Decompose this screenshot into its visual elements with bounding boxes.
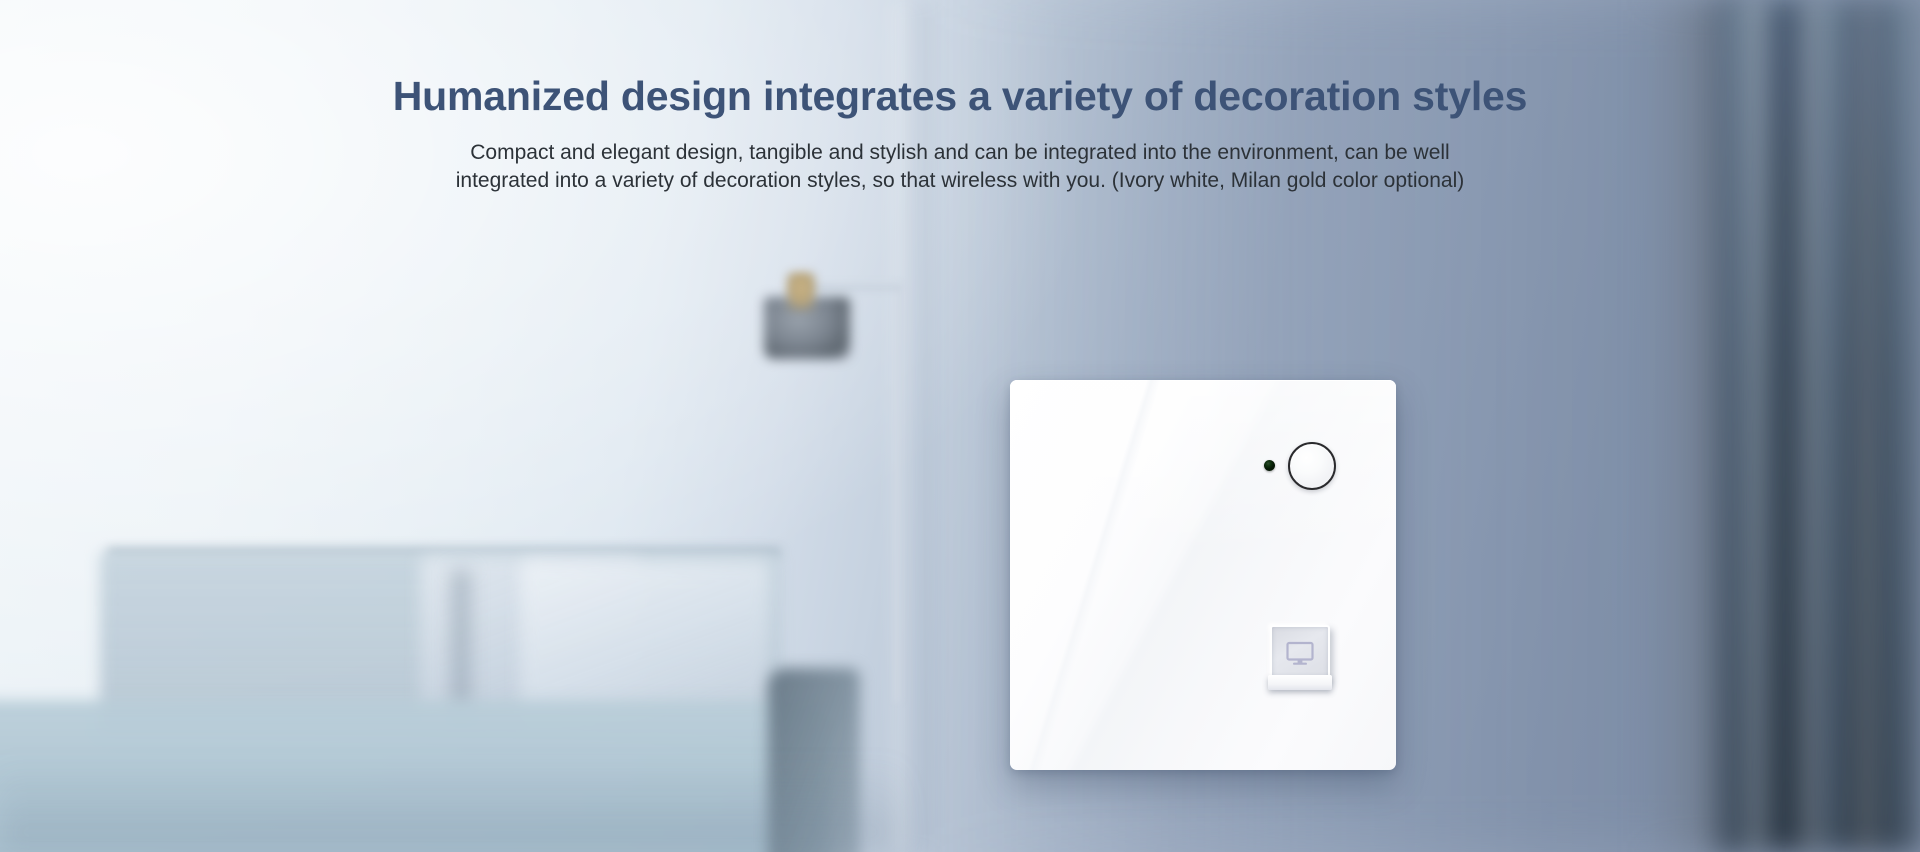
- curtain-fold: [1744, 0, 1770, 852]
- panel-gloss-highlight: [1010, 380, 1396, 770]
- wall-panel-device[interactable]: [1010, 380, 1396, 770]
- status-led-icon: [1264, 460, 1275, 471]
- floor-lamp-brass-fitting: [786, 272, 816, 312]
- monitor-icon: [1285, 641, 1315, 667]
- ethernet-port-tab: [1268, 675, 1332, 690]
- curtain-fold: [1854, 0, 1880, 852]
- product-hero-scene: Humanized design integrates a variety of…: [0, 0, 1920, 852]
- touch-button[interactable]: [1288, 442, 1336, 490]
- pillow-crease: [452, 570, 470, 720]
- curtain-fold: [1798, 0, 1824, 852]
- floor-lamp-pole: [893, 282, 902, 702]
- floor-shadow: [0, 762, 900, 852]
- panel-top-shine: [1010, 380, 1396, 559]
